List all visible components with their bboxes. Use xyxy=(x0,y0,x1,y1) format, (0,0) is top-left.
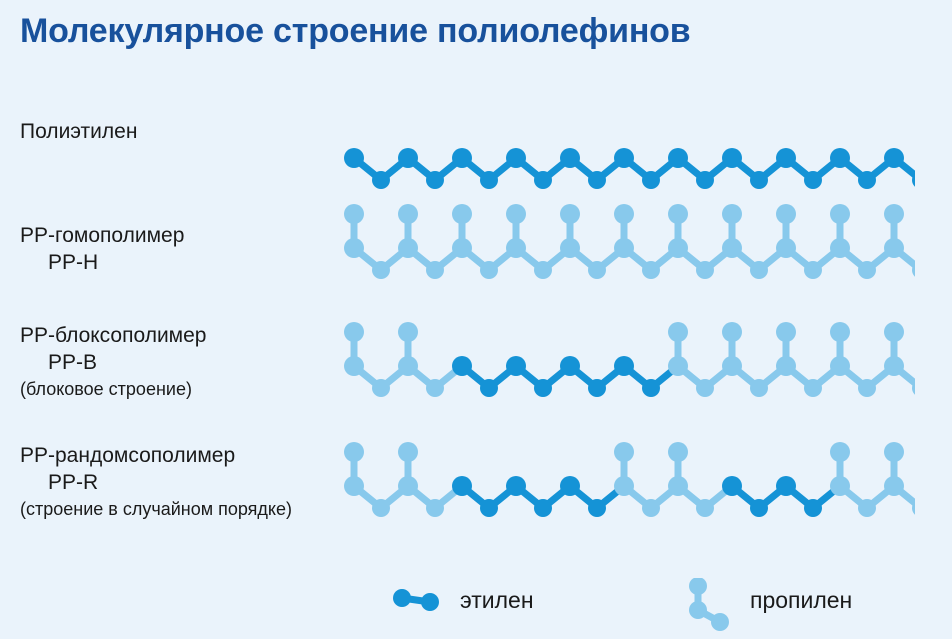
row-label-line2: PP-R xyxy=(20,469,292,496)
molecule-atom xyxy=(696,379,714,397)
molecule-atom xyxy=(776,322,796,342)
molecule-atom xyxy=(614,356,634,376)
molecule-atom xyxy=(372,171,390,189)
molecule-atom xyxy=(696,499,714,517)
molecule-atom xyxy=(452,148,472,168)
molecule-atom xyxy=(534,379,552,397)
molecule-atom xyxy=(614,476,634,496)
molecule-atom xyxy=(506,238,526,258)
molecule-atom xyxy=(560,238,580,258)
molecule-atom xyxy=(344,238,364,258)
molecule-atom xyxy=(480,171,498,189)
molecule-atom xyxy=(588,261,606,279)
molecule-atom xyxy=(858,261,876,279)
molecule-atom xyxy=(452,356,472,376)
molecule-atom xyxy=(344,148,364,168)
molecule-atom xyxy=(534,171,552,189)
legend-label-propylene: пропилен xyxy=(750,587,852,614)
row-label-line1: PP-гомополимер xyxy=(20,222,184,249)
molecule-atom xyxy=(398,238,418,258)
row-label-note: (строение в случайном порядке) xyxy=(20,496,292,523)
molecule-atom xyxy=(560,356,580,376)
ethylene-glyph xyxy=(390,578,446,622)
molecule-atom xyxy=(884,204,904,224)
molecule-atom xyxy=(668,238,688,258)
molecule-atom xyxy=(830,476,850,496)
infographic-page: Молекулярное строение полиолефинов Полиэ… xyxy=(0,0,952,631)
molecule-atom xyxy=(588,379,606,397)
molecule-atom xyxy=(506,476,526,496)
molecule-atom xyxy=(560,476,580,496)
molecule-atom xyxy=(830,356,850,376)
molecule-svg xyxy=(340,438,915,528)
molecule-atom xyxy=(344,356,364,376)
chain-diagram-pp-random-copolymer xyxy=(340,438,915,528)
molecule-atom xyxy=(776,238,796,258)
molecule-atom xyxy=(506,356,526,376)
molecule-atom xyxy=(668,476,688,496)
molecule-atom xyxy=(344,476,364,496)
molecule-atom xyxy=(668,322,688,342)
molecule-atom xyxy=(830,238,850,258)
molecule-atom xyxy=(344,322,364,342)
molecule-atom xyxy=(884,238,904,258)
molecule-atom xyxy=(614,442,634,462)
molecule-atom xyxy=(588,171,606,189)
molecule-atom xyxy=(560,204,580,224)
row-label-line2: PP-H xyxy=(20,249,184,276)
molecule-atom xyxy=(776,356,796,376)
molecule-svg xyxy=(340,318,915,408)
molecule-atom xyxy=(398,442,418,462)
molecule-atom xyxy=(884,356,904,376)
molecule-atom xyxy=(830,322,850,342)
molecule-atom xyxy=(398,476,418,496)
molecule-atom xyxy=(588,499,606,517)
propylene-icon xyxy=(680,578,736,622)
molecule-atom xyxy=(452,476,472,496)
molecule-atom xyxy=(884,442,904,462)
molecule-atom xyxy=(480,499,498,517)
molecule-atom xyxy=(804,261,822,279)
molecule-atom xyxy=(696,261,714,279)
molecule-atom xyxy=(426,261,444,279)
molecule-atom xyxy=(804,499,822,517)
molecule-atom xyxy=(642,379,660,397)
molecule-atom xyxy=(750,379,768,397)
molecule-atom xyxy=(722,356,742,376)
molecule-atom xyxy=(614,238,634,258)
molecule-atom xyxy=(668,356,688,376)
molecule-atom xyxy=(344,442,364,462)
molecule-atom xyxy=(642,261,660,279)
row-label-pp-block-copolymer: PP-блоксополимер PP-B (блоковое строение… xyxy=(20,322,206,403)
molecule-atom xyxy=(426,379,444,397)
molecule-atom xyxy=(776,476,796,496)
legend: этилен пропилен xyxy=(390,578,852,622)
molecule-atom xyxy=(830,204,850,224)
row-label-line2: PP-B xyxy=(20,349,206,376)
row-label-line1: PP-блоксополимер xyxy=(20,322,206,349)
molecule-atom xyxy=(560,148,580,168)
ethylene-icon xyxy=(390,578,446,622)
legend-label-ethylene: этилен xyxy=(460,587,534,614)
molecule-atom xyxy=(480,261,498,279)
molecule-atom xyxy=(426,171,444,189)
row-label-pp-random-copolymer: PP-рандомсополимер PP-R (строение в случ… xyxy=(20,442,292,523)
molecule-atom xyxy=(398,204,418,224)
chain-diagram-polyethylene xyxy=(340,110,915,200)
molecule-atom xyxy=(506,148,526,168)
molecule-atom xyxy=(372,261,390,279)
molecule-atom xyxy=(722,238,742,258)
molecule-atom xyxy=(668,148,688,168)
molecule-atom xyxy=(398,322,418,342)
molecule-atom xyxy=(398,148,418,168)
molecule-atom xyxy=(372,379,390,397)
row-label-line1: Полиэтилен xyxy=(20,118,137,145)
row-label-pp-homopolymer: PP-гомополимер PP-H xyxy=(20,222,184,276)
molecule-atom xyxy=(344,204,364,224)
page-title: Молекулярное строение полиолефинов xyxy=(20,12,690,51)
molecule-atom xyxy=(722,204,742,224)
molecule-atom xyxy=(534,499,552,517)
molecule-atom xyxy=(750,499,768,517)
molecule-atom xyxy=(722,322,742,342)
molecule-atom xyxy=(722,476,742,496)
molecule-atom xyxy=(804,379,822,397)
molecule-atom xyxy=(480,379,498,397)
molecule-atom xyxy=(614,204,634,224)
molecule-atom xyxy=(506,204,526,224)
row-label-line1: PP-рандомсополимер xyxy=(20,442,292,469)
molecule-atom xyxy=(858,171,876,189)
legend-item-ethylene: этилен xyxy=(390,578,680,622)
molecule-atom xyxy=(426,499,444,517)
chain-diagram-pp-homopolymer xyxy=(340,200,915,290)
molecule-atom xyxy=(858,499,876,517)
molecule-atom xyxy=(750,261,768,279)
molecule-atom xyxy=(884,476,904,496)
molecule-atom xyxy=(642,499,660,517)
molecule-atom xyxy=(668,204,688,224)
molecule-atom xyxy=(776,148,796,168)
row-label-polyethylene: Полиэтилен xyxy=(20,118,137,145)
molecule-atom xyxy=(452,238,472,258)
molecule-svg xyxy=(340,200,915,290)
molecule-atom xyxy=(884,322,904,342)
molecule-atom xyxy=(614,148,634,168)
molecule-atom xyxy=(696,171,714,189)
molecule-atom xyxy=(776,204,796,224)
molecule-atom xyxy=(750,171,768,189)
molecule-atom xyxy=(830,148,850,168)
chain-diagram-pp-block-copolymer xyxy=(340,318,915,408)
propylene-glyph xyxy=(680,578,736,634)
molecule-atom xyxy=(372,499,390,517)
row-label-note: (блоковое строение) xyxy=(20,376,206,403)
molecule-atom xyxy=(804,171,822,189)
molecule-atom xyxy=(452,204,472,224)
molecule-atom xyxy=(858,379,876,397)
molecule-atom xyxy=(722,148,742,168)
molecule-atom xyxy=(830,442,850,462)
legend-item-propylene: пропилен xyxy=(680,578,852,622)
molecule-atom xyxy=(884,148,904,168)
molecule-atom xyxy=(398,356,418,376)
molecule-atom xyxy=(534,261,552,279)
molecule-atom xyxy=(668,442,688,462)
molecule-atom xyxy=(642,171,660,189)
molecule-svg xyxy=(340,110,915,200)
